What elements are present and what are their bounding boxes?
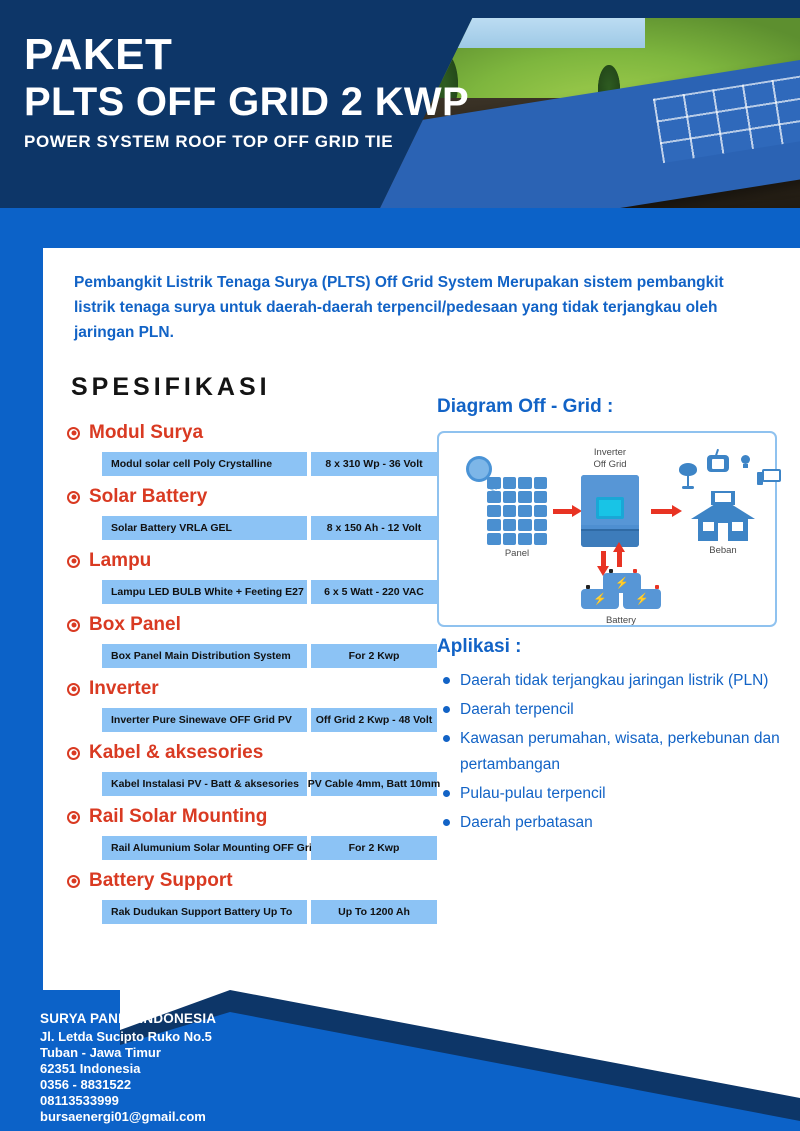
tv-icon (707, 455, 729, 472)
spec-item-title: Modul Surya (89, 423, 203, 443)
house-icon (691, 489, 755, 541)
header-title-block: PAKET PLTS OFF GRID 2 KWP POWER SYSTEM R… (24, 32, 469, 154)
spec-item-header: Kabel & aksesories (57, 738, 457, 768)
contact-block: SURYA PANEL INDONESIA Jl. Letda Sucipto … (40, 1009, 216, 1125)
spec-description: Solar Battery VRLA GEL (102, 516, 307, 540)
spec-value: 8 x 310 Wp - 36 Volt (311, 452, 437, 476)
email-address[interactable]: bursaenergi01@gmail.com (40, 1109, 216, 1125)
spec-description: Rak Dudukan Support Battery Up To (102, 900, 307, 924)
spec-detail-row: Kabel Instalasi PV - Batt & aksesories P… (102, 772, 457, 796)
spesifikasi-heading: SPESIFIKASI (71, 373, 271, 402)
spec-item-title: Solar Battery (89, 487, 207, 507)
diagram-label-load: Beban (687, 545, 759, 556)
aplikasi-item-label: Daerah terpencil (460, 697, 574, 723)
spec-item-header: Modul Surya (57, 418, 457, 448)
spec-item-title: Kabel & aksesories (89, 743, 263, 763)
target-bullet-icon (67, 811, 80, 824)
spec-item-header: Box Panel (57, 610, 457, 640)
aplikasi-item-label: Pulau-pulau terpencil (460, 781, 606, 807)
spec-item-title: Battery Support (89, 871, 233, 891)
header-eyebrow: PAKET (24, 32, 469, 78)
lightbulb-icon (739, 455, 751, 469)
fan-icon (679, 463, 697, 489)
spec-item-header: Solar Battery (57, 482, 457, 512)
spec-detail-row: Solar Battery VRLA GEL 8 x 150 Ah - 12 V… (102, 516, 457, 540)
spec-detail-row: Box Panel Main Distribution System For 2… (102, 644, 457, 668)
spec-value: 8 x 150 Ah - 12 Volt (311, 516, 437, 540)
spec-item: Inverter Inverter Pure Sinewave OFF Grid… (57, 674, 457, 732)
spec-item-header: Inverter (57, 674, 457, 704)
list-item: Daerah tidak terjangkau jaringan listrik… (437, 668, 797, 694)
battery-terminal-negative-icon (609, 569, 613, 573)
aplikasi-item-label: Daerah tidak terjangkau jaringan listrik… (460, 668, 768, 694)
arrow-inverter-to-load-icon (651, 509, 673, 514)
phone-number-2[interactable]: 08113533999 (40, 1093, 216, 1109)
spec-value: Up To 1200 Ah (311, 900, 437, 924)
spec-value: Off Grid 2 Kwp - 48 Volt (311, 708, 437, 732)
aplikasi-section: Aplikasi : Daerah tidak terjangkau jarin… (437, 636, 797, 839)
spec-description: Box Panel Main Distribution System (102, 644, 307, 668)
spec-item-header: Lampu (57, 546, 457, 576)
diagram-label-inverter-1: Inverter (579, 447, 641, 458)
spec-description: Rail Alumunium Solar Mounting OFF Grid (102, 836, 307, 860)
target-bullet-icon (67, 747, 80, 760)
company-name: SURYA PANEL INDONESIA (40, 1009, 216, 1029)
address-line-2: Tuban - Jawa Timur (40, 1045, 216, 1061)
spec-item: Lampu Lampu LED BULB White + Feeting E27… (57, 546, 457, 604)
battery-terminal-positive-icon (655, 585, 659, 589)
spec-description: Kabel Instalasi PV - Batt & aksesories (102, 772, 307, 796)
target-bullet-icon (67, 555, 80, 568)
spec-item-title: Rail Solar Mounting (89, 807, 267, 827)
list-item: Daerah terpencil (437, 697, 797, 723)
arrow-panel-to-inverter-icon (553, 509, 573, 514)
diagram-canvas: Panel Inverter Off Grid ⚡ ⚡ ⚡ (437, 431, 777, 627)
spec-value: For 2 Kwp (311, 644, 437, 668)
content-card: Pembangkit Listrik Tenaga Surya (PLTS) O… (43, 248, 800, 990)
bullet-dot-icon (443, 735, 450, 742)
target-bullet-icon (67, 491, 80, 504)
bullet-dot-icon (443, 790, 450, 797)
spec-item: Solar Battery Solar Battery VRLA GEL 8 x… (57, 482, 457, 540)
diagram-label-inverter-2: Off Grid (579, 459, 641, 470)
list-item: Pulau-pulau terpencil (437, 781, 797, 807)
spec-detail-row: Modul solar cell Poly Crystalline 8 x 31… (102, 452, 457, 476)
bullet-dot-icon (443, 677, 450, 684)
battery-icon: ⚡ (623, 589, 661, 609)
aplikasi-list: Daerah tidak terjangkau jaringan listrik… (437, 668, 797, 836)
battery-terminal-negative-icon (586, 585, 590, 589)
phone-number-1[interactable]: 0356 - 8831522 (40, 1077, 216, 1093)
solar-panel-icon (487, 477, 547, 545)
spec-detail-row: Inverter Pure Sinewave OFF Grid PV Off G… (102, 708, 457, 732)
diagram-label-panel: Panel (483, 548, 551, 559)
address-line-3: 62351 Indonesia (40, 1061, 216, 1077)
arrow-battery-to-inverter-icon (617, 551, 622, 567)
target-bullet-icon (67, 427, 80, 440)
aplikasi-item-label: Kawasan perumahan, wisata, perkebunan da… (460, 726, 797, 778)
spec-value: PV Cable 4mm, Batt 10mm (311, 772, 437, 796)
inverter-icon (581, 475, 639, 547)
list-item: Kawasan perumahan, wisata, perkebunan da… (437, 726, 797, 778)
sun-icon (469, 459, 489, 479)
address-line-1: Jl. Letda Sucipto Ruko No.5 (40, 1029, 216, 1045)
bullet-dot-icon (443, 706, 450, 713)
spec-value: 6 x 5 Watt - 220 VAC (311, 580, 437, 604)
inverter-display-icon (596, 497, 624, 519)
page-title: PLTS OFF GRID 2 KWP (24, 78, 469, 126)
diagram-section: Diagram Off - Grid : Panel Inverter Off … (437, 396, 787, 627)
spec-item: Kabel & aksesories Kabel Instalasi PV - … (57, 738, 457, 796)
bullet-dot-icon (443, 819, 450, 826)
list-item: Daerah perbatasan (437, 810, 797, 836)
spec-item: Modul Surya Modul solar cell Poly Crysta… (57, 418, 457, 476)
target-bullet-icon (67, 619, 80, 632)
spec-detail-row: Rail Alumunium Solar Mounting OFF Grid F… (102, 836, 457, 860)
spec-item-title: Lampu (89, 551, 151, 571)
spec-item-header: Rail Solar Mounting (57, 802, 457, 832)
flyer-page: PAKET PLTS OFF GRID 2 KWP POWER SYSTEM R… (0, 0, 800, 1131)
spec-item: Rail Solar Mounting Rail Alumunium Solar… (57, 802, 457, 860)
battery-icon: ⚡ (581, 589, 619, 609)
spec-item: Battery Support Rak Dudukan Support Batt… (57, 866, 457, 924)
spec-item-header: Battery Support (57, 866, 457, 896)
spec-description: Lampu LED BULB White + Feeting E27 (102, 580, 307, 604)
spec-description: Inverter Pure Sinewave OFF Grid PV (102, 708, 307, 732)
header-banner: PAKET PLTS OFF GRID 2 KWP POWER SYSTEM R… (0, 0, 800, 208)
spec-item: Box Panel Box Panel Main Distribution Sy… (57, 610, 457, 668)
aplikasi-item-label: Daerah perbatasan (460, 810, 593, 836)
spec-value: For 2 Kwp (311, 836, 437, 860)
spec-item-title: Box Panel (89, 615, 181, 635)
diagram-label-battery: Battery (573, 615, 669, 626)
diagram-title: Diagram Off - Grid : (437, 396, 787, 418)
spec-detail-row: Lampu LED BULB White + Feeting E27 6 x 5… (102, 580, 457, 604)
intro-paragraph: Pembangkit Listrik Tenaga Surya (PLTS) O… (74, 270, 764, 345)
target-bullet-icon (67, 683, 80, 696)
spec-description: Modul solar cell Poly Crystalline (102, 452, 307, 476)
spec-item-title: Inverter (89, 679, 159, 699)
arrow-inverter-to-battery-icon (601, 551, 606, 567)
battery-bank-icon: ⚡ ⚡ ⚡ (581, 573, 661, 613)
computer-icon (757, 469, 781, 487)
spec-detail-row: Rak Dudukan Support Battery Up To Up To … (102, 900, 457, 924)
battery-terminal-positive-icon (633, 569, 637, 573)
target-bullet-icon (67, 875, 80, 888)
header-subtitle: POWER SYSTEM ROOF TOP OFF GRID TIE (24, 130, 469, 154)
spec-list: Modul Surya Modul solar cell Poly Crysta… (57, 418, 457, 930)
aplikasi-title: Aplikasi : (437, 636, 797, 658)
